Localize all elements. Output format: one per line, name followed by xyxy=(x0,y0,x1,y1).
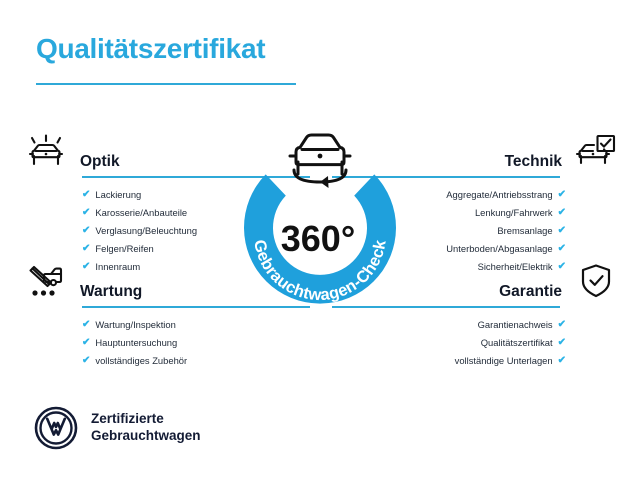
list-item-label: Wartung/Inspektion xyxy=(95,320,175,329)
section-technik-title: Technik xyxy=(505,154,562,173)
section-garantie-title: Garantie xyxy=(499,284,562,303)
check-icon: ✔ xyxy=(82,338,90,348)
list-item-label: Unterboden/Abgasanlage xyxy=(446,244,552,253)
check-icon: ✔ xyxy=(558,208,566,218)
vw-logo xyxy=(34,406,78,450)
car-checkbox-icon xyxy=(572,130,620,172)
list-item: Qualitätszertifikat✔ xyxy=(330,334,566,352)
certificate-page: Qualitätszertifikat xyxy=(0,0,640,480)
list-item-label: vollständiges Zubehör xyxy=(95,356,187,365)
check-icon: ✔ xyxy=(82,356,90,366)
list-item: Garantienachweis✔ xyxy=(330,316,566,334)
section-optik-title: Optik xyxy=(80,154,120,173)
list-item-label: Qualitätszertifikat xyxy=(481,338,553,347)
list-item: ✔vollständiges Zubehör xyxy=(82,352,312,370)
check-icon: ✔ xyxy=(558,356,566,366)
list-item: ✔Wartung/Inspektion xyxy=(82,316,312,334)
list-item-label: Aggregate/Antriebsstrang xyxy=(446,190,552,199)
vw-brand-footer: Zertifizierte Gebrauchtwagen xyxy=(34,406,201,450)
check-icon: ✔ xyxy=(82,208,90,218)
wrench-car-icon xyxy=(22,260,70,302)
list-item-label: Karosserie/Anbauteile xyxy=(95,208,187,217)
vw-brand-text: Zertifizierte Gebrauchtwagen xyxy=(91,411,201,445)
check-icon: ✔ xyxy=(82,244,90,254)
section-wartung-title: Wartung xyxy=(80,284,142,303)
list-item-label: Garantienachweis xyxy=(478,320,553,329)
page-title-divider xyxy=(36,83,296,85)
shield-check-icon xyxy=(572,260,620,302)
check-icon: ✔ xyxy=(558,320,566,330)
vw-brand-line-2: Gebrauchtwagen xyxy=(91,428,201,443)
car-shine-icon xyxy=(22,130,70,172)
check-icon: ✔ xyxy=(558,244,566,254)
list-item-label: vollständige Unterlagen xyxy=(455,356,553,365)
list-item-label: Lenkung/Fahrwerk xyxy=(475,208,553,217)
check-icon: ✔ xyxy=(558,190,566,200)
check-icon: ✔ xyxy=(82,190,90,200)
check-icon: ✔ xyxy=(558,226,566,236)
badge-center-label: 360° xyxy=(281,218,355,259)
list-item-label: Bremsanlage xyxy=(497,226,552,235)
check-icon: ✔ xyxy=(558,338,566,348)
list-item: ✔Hauptuntersuchung xyxy=(82,334,312,352)
list-item-label: Verglasung/Beleuchtung xyxy=(95,226,197,235)
list-item-label: Hauptuntersuchung xyxy=(95,338,177,347)
vw-brand-line-1: Zertifizierte xyxy=(91,411,164,426)
list-item-label: Felgen/Reifen xyxy=(95,244,153,253)
section-garantie-list: Garantienachweis✔ Qualitätszertifikat✔ v… xyxy=(330,316,620,370)
gebrauchtwagen-check-badge: Gebrauchtwagen-Check 360° xyxy=(224,118,416,318)
section-wartung-list: ✔Wartung/Inspektion ✔Hauptuntersuchung ✔… xyxy=(22,316,312,370)
list-item-label: Lackierung xyxy=(95,190,141,199)
list-item: vollständige Unterlagen✔ xyxy=(330,352,566,370)
page-title: Qualitätszertifikat xyxy=(36,33,265,65)
check-icon: ✔ xyxy=(82,226,90,236)
check-icon: ✔ xyxy=(82,320,90,330)
